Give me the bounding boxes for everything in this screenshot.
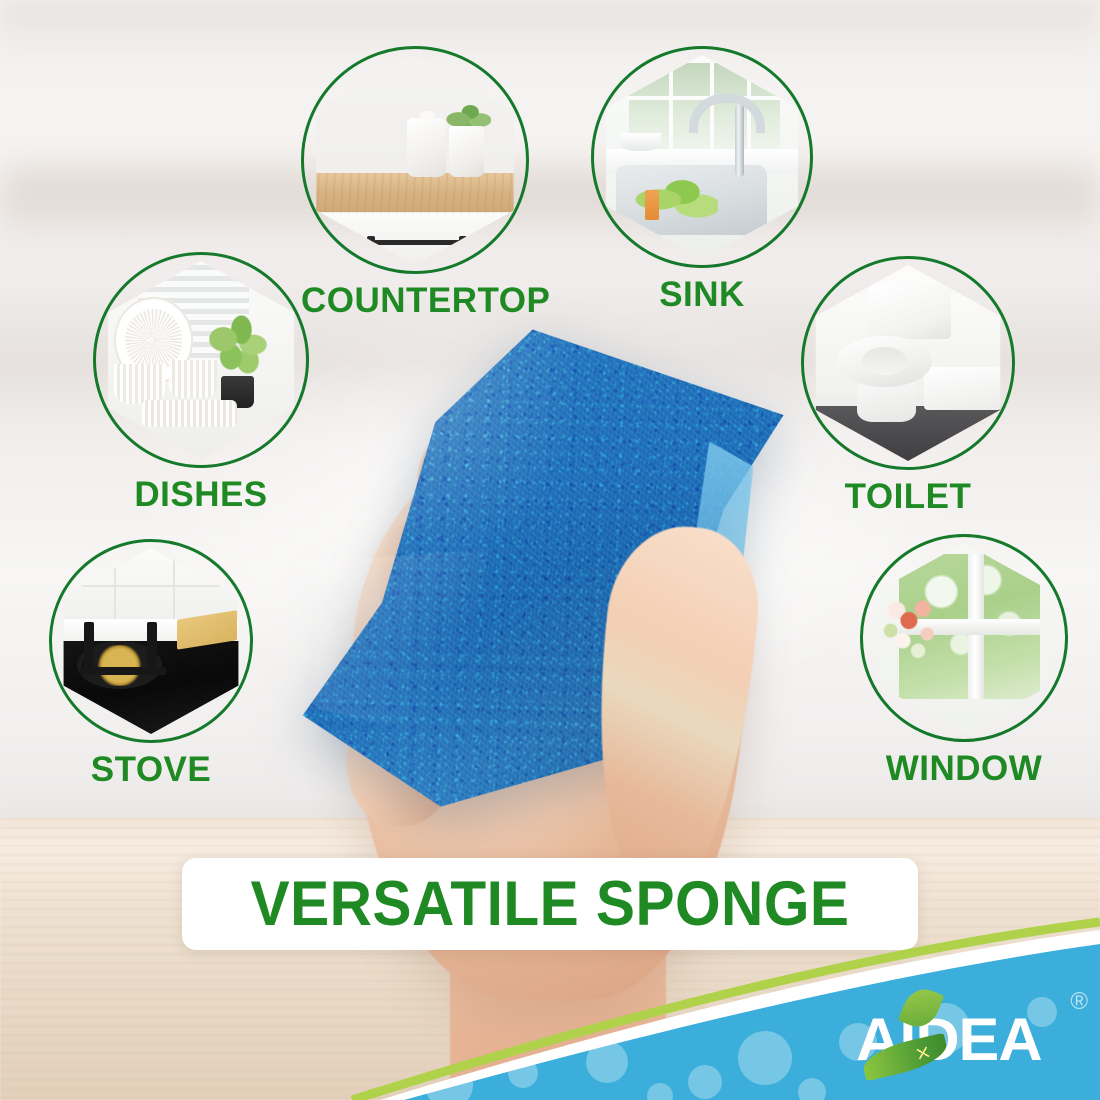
- window-photo-ring: [860, 534, 1068, 742]
- stove-photo-ring: [49, 539, 253, 743]
- brand-logo[interactable]: AIDEA ®: [858, 1004, 1086, 1080]
- use-case-countertop[interactable]: COUNTERTOP: [301, 46, 529, 318]
- sink-photo: [600, 55, 804, 259]
- dishes-photo: [102, 261, 300, 459]
- use-case-label: WINDOW: [860, 751, 1068, 786]
- background-shelf-shadow: [0, 150, 1100, 240]
- toilet-photo-ring: [801, 256, 1015, 470]
- use-case-window[interactable]: WINDOW: [860, 534, 1068, 786]
- use-case-label: COUNTERTOP: [301, 283, 529, 318]
- stove-photo: [58, 548, 244, 734]
- dishes-photo-ring: [93, 252, 309, 468]
- hand-holding-sponge: [268, 330, 828, 1100]
- background-ceiling-shade: [0, 0, 1100, 60]
- use-case-label: TOILET: [801, 479, 1015, 514]
- page-title: VERSATILE SPONGE: [251, 873, 850, 936]
- use-case-label: STOVE: [49, 752, 253, 787]
- use-case-toilet[interactable]: TOILET: [801, 256, 1015, 514]
- product-infographic: COUNTERTOP SINK: [0, 0, 1100, 1100]
- use-case-label: DISHES: [93, 477, 309, 512]
- countertop-photo: [310, 55, 520, 265]
- use-case-stove[interactable]: STOVE: [49, 539, 253, 787]
- use-case-dishes[interactable]: DISHES: [93, 252, 309, 512]
- use-case-sink[interactable]: SINK: [591, 46, 813, 312]
- sink-photo-ring: [591, 46, 813, 268]
- headline-banner: VERSATILE SPONGE: [182, 858, 918, 950]
- toilet-photo: [810, 265, 1006, 461]
- window-photo: [869, 543, 1059, 733]
- use-case-label: SINK: [591, 277, 813, 312]
- registered-trademark-icon: ®: [1070, 990, 1088, 1014]
- countertop-photo-ring: [301, 46, 529, 274]
